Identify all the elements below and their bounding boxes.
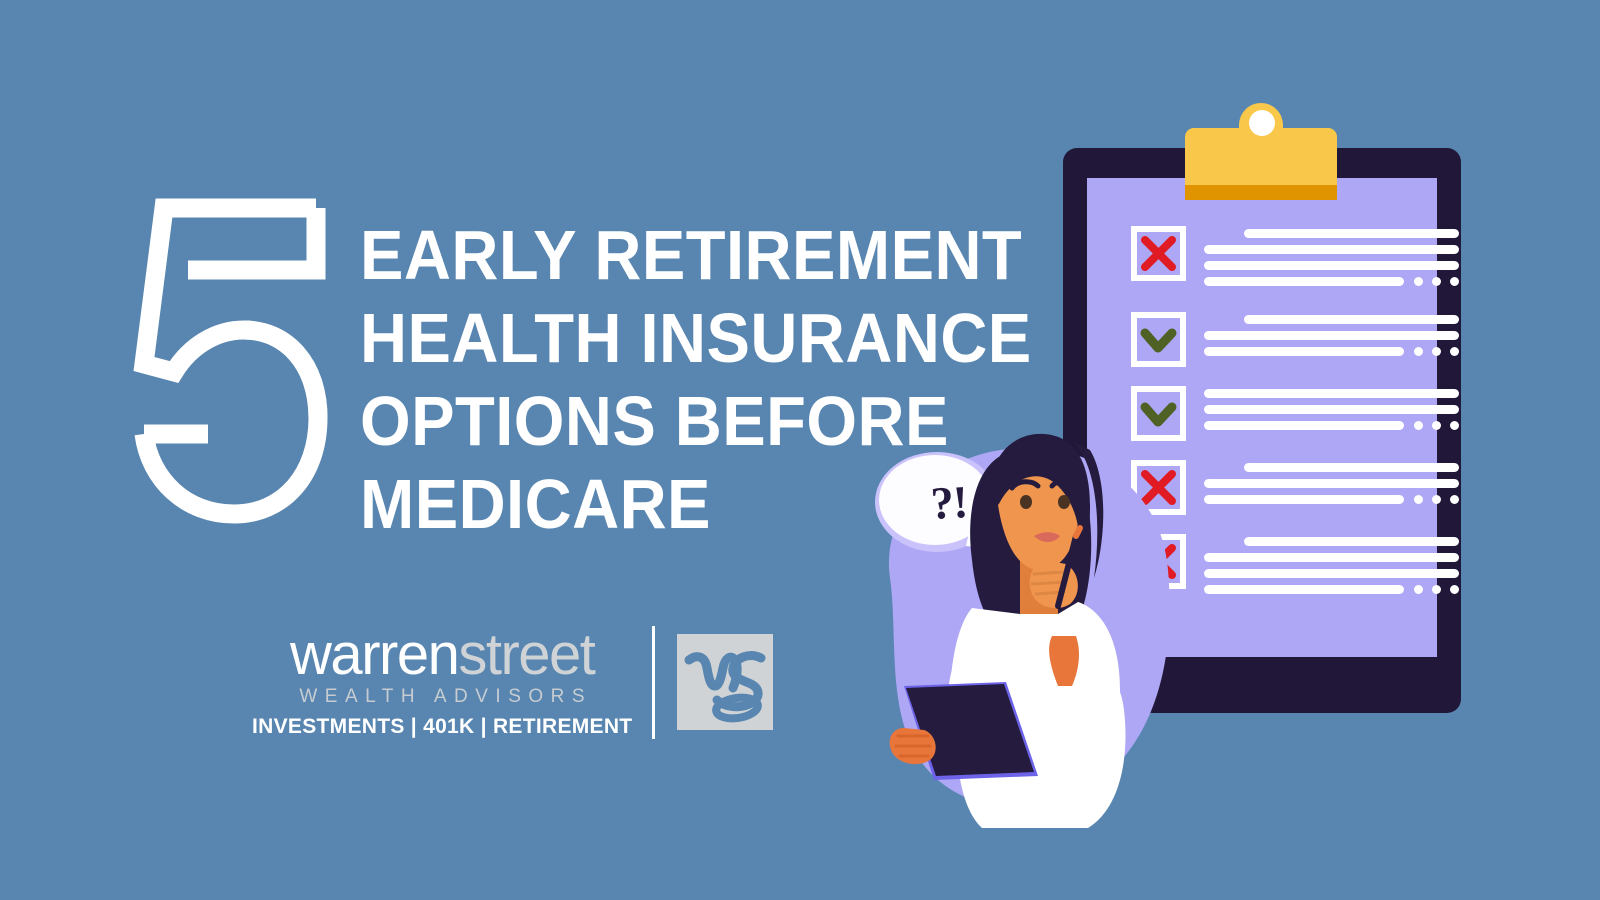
checklist-text-lines — [1204, 386, 1459, 437]
text-line — [1244, 229, 1459, 238]
person-eye-right — [1058, 495, 1070, 509]
ellipsis-dots-icon — [1414, 585, 1459, 594]
text-line — [1244, 537, 1459, 546]
logo-wordmark: warrenstreet — [252, 625, 632, 685]
logo-subtitle: WEALTH ADVISORS — [252, 686, 632, 708]
text-line — [1204, 479, 1459, 488]
text-line — [1204, 495, 1404, 504]
ellipsis-dots-icon — [1414, 277, 1459, 286]
text-line-with-dots — [1204, 585, 1459, 594]
person-eye-left — [1020, 495, 1032, 509]
checklist-text-lines — [1204, 534, 1459, 601]
logo-divider — [652, 626, 655, 739]
checkbox-cross-icon — [1131, 226, 1186, 281]
ellipsis-dots-icon — [1414, 495, 1459, 504]
text-line — [1204, 331, 1459, 340]
clipboard-clip — [1185, 128, 1337, 185]
text-line — [1244, 315, 1459, 324]
text-line — [1204, 277, 1404, 286]
text-line — [1204, 569, 1459, 578]
clipboard-clip-shadow — [1185, 185, 1337, 200]
text-line — [1204, 585, 1404, 594]
poster-canvas: EARLY RETIREMENT HEALTH INSURANCE OPTION… — [0, 0, 1600, 900]
text-line — [1204, 245, 1459, 254]
person-illustration — [862, 410, 1222, 830]
big-number-5 — [120, 196, 338, 526]
speech-bubble-text: ?! — [903, 474, 996, 532]
checklist-row — [1131, 312, 1441, 367]
text-line — [1204, 421, 1404, 430]
logo-tagline: INVESTMENTS | 401K | RETIREMENT — [252, 715, 632, 739]
checklist-row — [1131, 226, 1441, 293]
text-line-with-dots — [1204, 495, 1459, 504]
checklist-text-lines — [1204, 226, 1459, 293]
text-line — [1204, 553, 1459, 562]
brand-logo: warrenstreet WEALTH ADVISORS INVESTMENTS… — [252, 625, 773, 739]
clipboard-clip-hole-icon — [1249, 110, 1275, 136]
text-line — [1204, 405, 1459, 414]
checkbox-check-icon — [1131, 312, 1186, 367]
text-line — [1244, 463, 1459, 472]
text-line — [1204, 389, 1459, 398]
headline-line-1: EARLY RETIREMENT — [360, 214, 1032, 297]
text-line — [1204, 261, 1459, 270]
logo-word-street: street — [458, 622, 594, 687]
logo-word-warren: warren — [290, 622, 458, 687]
text-line-with-dots — [1204, 347, 1459, 356]
logo-text-group: warrenstreet WEALTH ADVISORS INVESTMENTS… — [252, 625, 632, 739]
headline-line-2: HEALTH INSURANCE — [360, 297, 1032, 380]
logo-monogram-ws-icon — [677, 634, 773, 730]
text-line-with-dots — [1204, 421, 1459, 430]
text-line — [1204, 347, 1404, 356]
ellipsis-dots-icon — [1414, 421, 1459, 430]
text-line-with-dots — [1204, 277, 1459, 286]
ellipsis-dots-icon — [1414, 347, 1459, 356]
checklist-text-lines — [1204, 460, 1459, 511]
checklist-text-lines — [1204, 312, 1459, 363]
